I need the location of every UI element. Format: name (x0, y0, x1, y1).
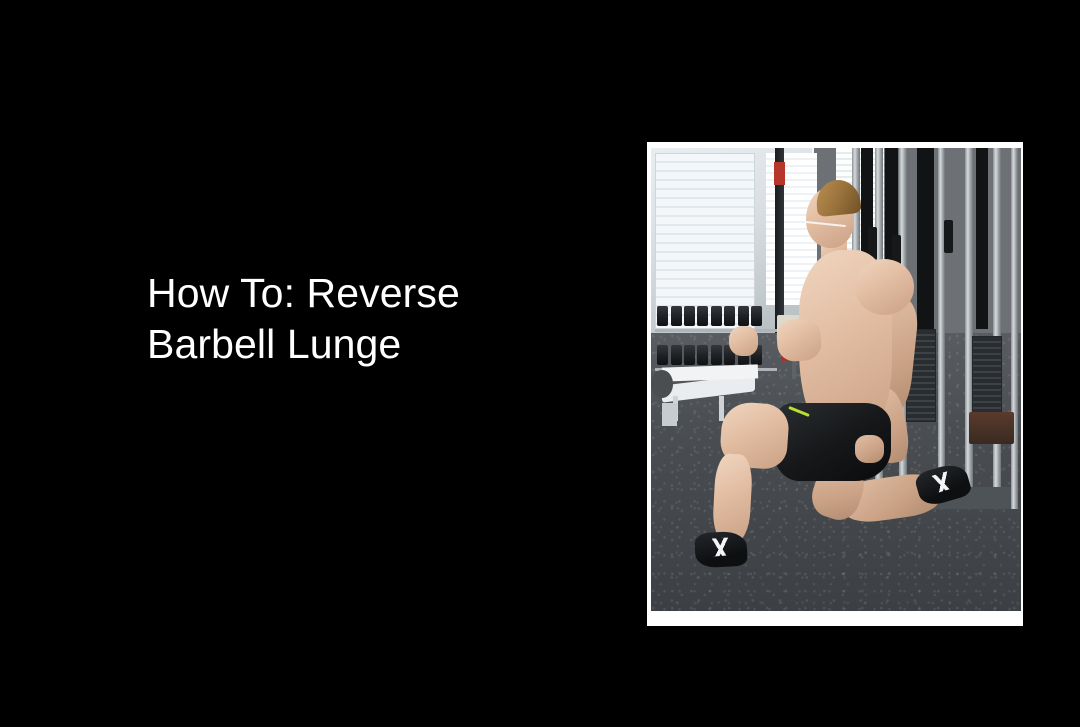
athlete (651, 148, 1021, 611)
front-arm (775, 318, 822, 363)
shoe-lace (924, 470, 961, 496)
gym-photo (651, 148, 1021, 611)
title-line-2: Barbell Lunge (147, 319, 607, 370)
title-line-1: How To: Reverse (147, 268, 607, 319)
shoulder (855, 259, 914, 315)
page-title: How To: Reverse Barbell Lunge (147, 268, 607, 370)
front-shoe (695, 531, 749, 568)
title-slide: How To: Reverse Barbell Lunge (0, 0, 1080, 727)
photo-frame (647, 142, 1023, 626)
hair (814, 178, 862, 217)
shoe-lace (704, 538, 738, 558)
front-shin (712, 453, 754, 543)
front-fist (729, 326, 759, 356)
back-hand (855, 435, 885, 463)
